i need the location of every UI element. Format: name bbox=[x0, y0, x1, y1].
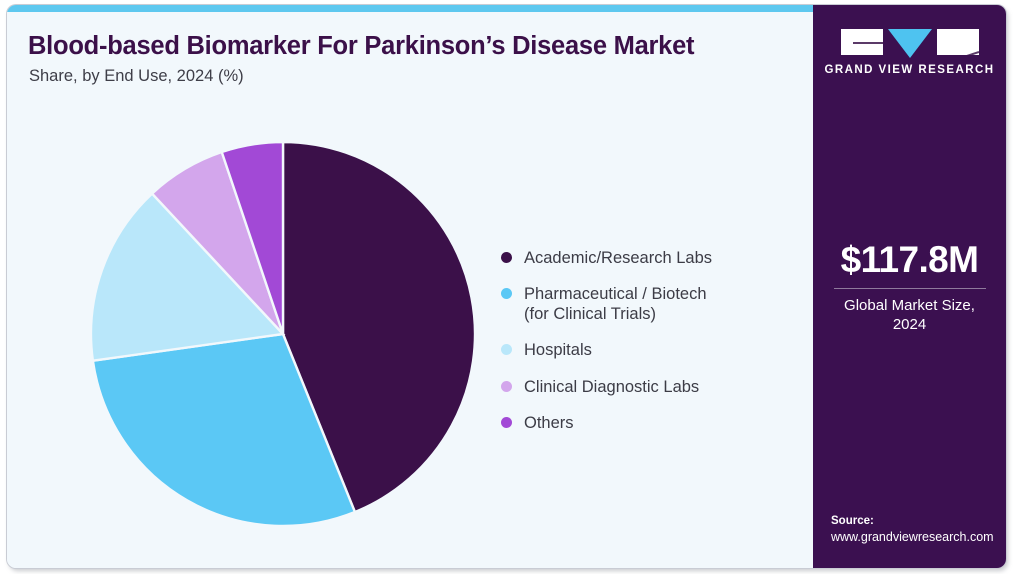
pie-chart bbox=[90, 141, 476, 527]
legend-item-label: Clinical Diagnostic Labs bbox=[524, 377, 699, 397]
legend-swatch-icon bbox=[501, 288, 512, 299]
pie-slice-group bbox=[91, 142, 475, 526]
legend-swatch-icon bbox=[501, 344, 512, 355]
logo-r-icon bbox=[937, 29, 979, 55]
legend-swatch-icon bbox=[501, 252, 512, 263]
page-title: Blood-based Biomarker For Parkinson’s Di… bbox=[28, 32, 798, 61]
brand-sidebar: GRAND VIEW RESEARCH $117.8M Global Marke… bbox=[813, 5, 1006, 568]
infographic-card: Blood-based Biomarker For Parkinson’s Di… bbox=[7, 5, 1006, 568]
market-size-stat: $117.8M Global Market Size, 2024 bbox=[813, 241, 1006, 335]
top-accent-bar bbox=[7, 5, 813, 12]
legend-item-hospitals[interactable]: Hospitals bbox=[501, 340, 801, 360]
stat-divider bbox=[834, 288, 986, 289]
legend-swatch-icon bbox=[501, 417, 512, 428]
source-url[interactable]: www.grandviewresearch.com bbox=[831, 529, 1006, 546]
brand-logo: GRAND VIEW RESEARCH bbox=[813, 29, 1006, 76]
brand-name: GRAND VIEW RESEARCH bbox=[813, 64, 1006, 76]
legend-item-label: Others bbox=[524, 413, 574, 433]
logo-marks bbox=[813, 29, 1006, 55]
legend-item-others[interactable]: Others bbox=[501, 413, 801, 433]
legend-item-clinical-diagnostic-labs[interactable]: Clinical Diagnostic Labs bbox=[501, 377, 801, 397]
logo-g-icon bbox=[841, 29, 883, 55]
source-label: Source: bbox=[831, 514, 1006, 530]
legend-item-label: Academic/Research Labs bbox=[524, 248, 712, 268]
infographic-root: Blood-based Biomarker For Parkinson’s Di… bbox=[0, 0, 1013, 574]
page-subtitle: Share, by End Use, 2024 (%) bbox=[29, 67, 729, 87]
legend-item-label: Pharmaceutical / Biotech (for Clinical T… bbox=[524, 284, 707, 324]
chart-panel: Blood-based Biomarker For Parkinson’s Di… bbox=[7, 12, 813, 568]
legend-item-academic-research-labs[interactable]: Academic/Research Labs bbox=[501, 248, 801, 268]
pie-chart-svg bbox=[90, 141, 476, 527]
source-block: Source: www.grandviewresearch.com bbox=[831, 514, 1006, 546]
legend-item-label: Hospitals bbox=[524, 340, 592, 360]
stat-caption: Global Market Size, 2024 bbox=[813, 296, 1006, 335]
stat-value: $117.8M bbox=[813, 241, 1006, 280]
chart-legend: Academic/Research Labs Pharmaceutical / … bbox=[501, 248, 801, 433]
legend-item-pharmaceutical-biotech[interactable]: Pharmaceutical / Biotech (for Clinical T… bbox=[501, 284, 801, 324]
logo-v-triangle-icon bbox=[888, 29, 932, 58]
legend-swatch-icon bbox=[501, 381, 512, 392]
